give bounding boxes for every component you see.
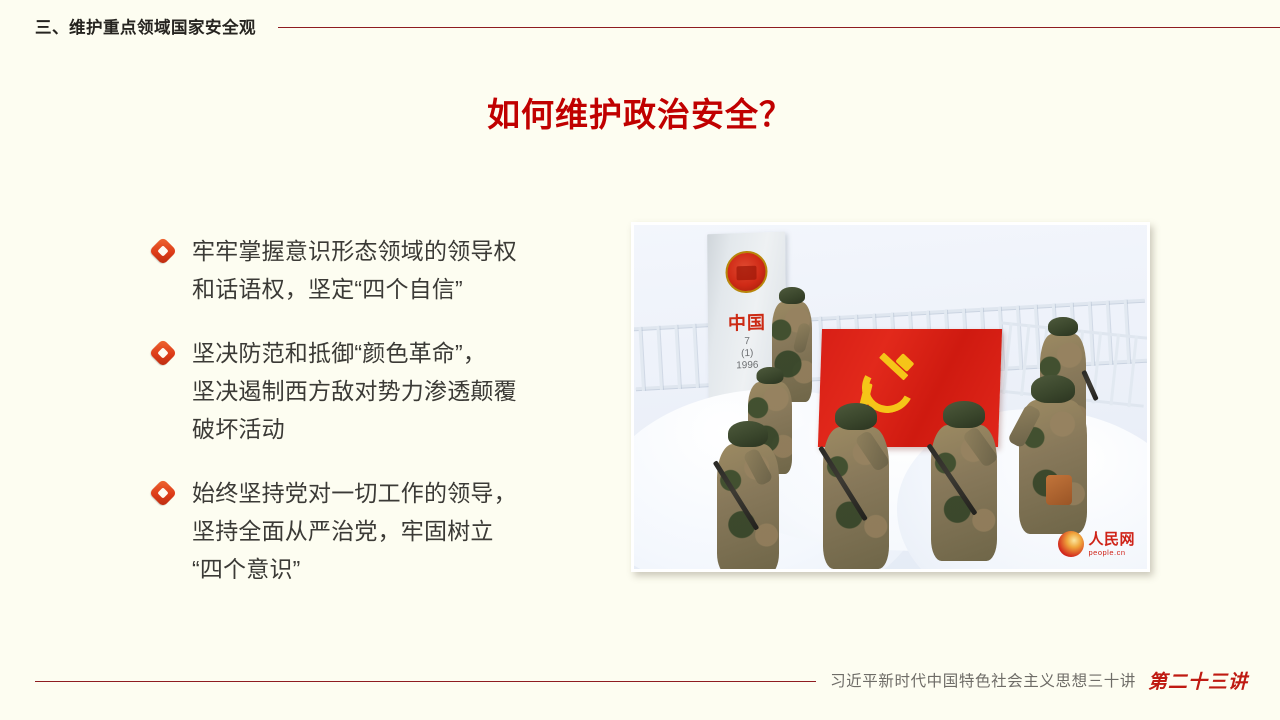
diamond-bullet-icon — [150, 480, 176, 506]
slide-header: 三、维护重点领域国家安全观 — [0, 0, 1280, 52]
marker-country-label: 中国 — [728, 308, 766, 335]
bullet-list: 牢牢掌握意识形态领域的领导权 和话语权，坚定“四个自信” 坚决防范和抵御“颜色革… — [150, 232, 610, 588]
list-item: 始终坚持党对一切工作的领导， 坚持全面从严治党，牢固树立 “四个意识” — [150, 474, 610, 588]
watermark-en-text: people.cn — [1088, 549, 1135, 557]
section-title: 三、维护重点领域国家安全观 — [35, 14, 256, 38]
soldier-saluting — [924, 401, 1004, 561]
footer-lecture-number: 第二十三讲 — [1148, 667, 1248, 694]
soldier-saluting — [816, 403, 896, 569]
national-emblem-icon — [725, 250, 767, 293]
slide-footer: 习近平新时代中国特色社会主义思想三十讲 第二十三讲 — [0, 660, 1280, 700]
bullet-text: 始终坚持党对一切工作的领导， 坚持全面从严治党，牢固树立 “四个意识” — [192, 474, 517, 588]
people-cn-watermark: 人民网 people.cn — [1058, 531, 1135, 557]
photo-frame: 中国 7 (1) 1996 — [631, 222, 1150, 572]
diamond-bullet-icon — [150, 238, 176, 264]
diamond-bullet-icon — [150, 340, 176, 366]
footer-series-title: 习近平新时代中国特色社会主义思想三十讲 — [830, 669, 1136, 691]
header-divider-line — [278, 27, 1280, 28]
people-cn-logo-icon — [1058, 531, 1084, 557]
watermark-cn-text: 人民网 — [1088, 532, 1135, 547]
list-item: 坚决防范和抵御“颜色革命”， 坚决遏制西方敌对势力渗透颠覆 破坏活动 — [150, 334, 610, 448]
page-title: 如何维护政治安全？ — [0, 88, 1280, 136]
list-item: 牢牢掌握意识形态领域的领导权 和话语权，坚定“四个自信” — [150, 232, 610, 308]
shoulder-bag — [1046, 475, 1072, 505]
footer-divider-line — [35, 681, 816, 682]
bullet-text: 坚决防范和抵御“颜色革命”， 坚决遏制西方敌对势力渗透颠覆 破坏活动 — [192, 334, 517, 448]
bullet-text: 牢牢掌握意识形态领域的领导权 和话语权，坚定“四个自信” — [192, 232, 517, 308]
border-soldiers-photo: 中国 7 (1) 1996 — [634, 225, 1147, 569]
